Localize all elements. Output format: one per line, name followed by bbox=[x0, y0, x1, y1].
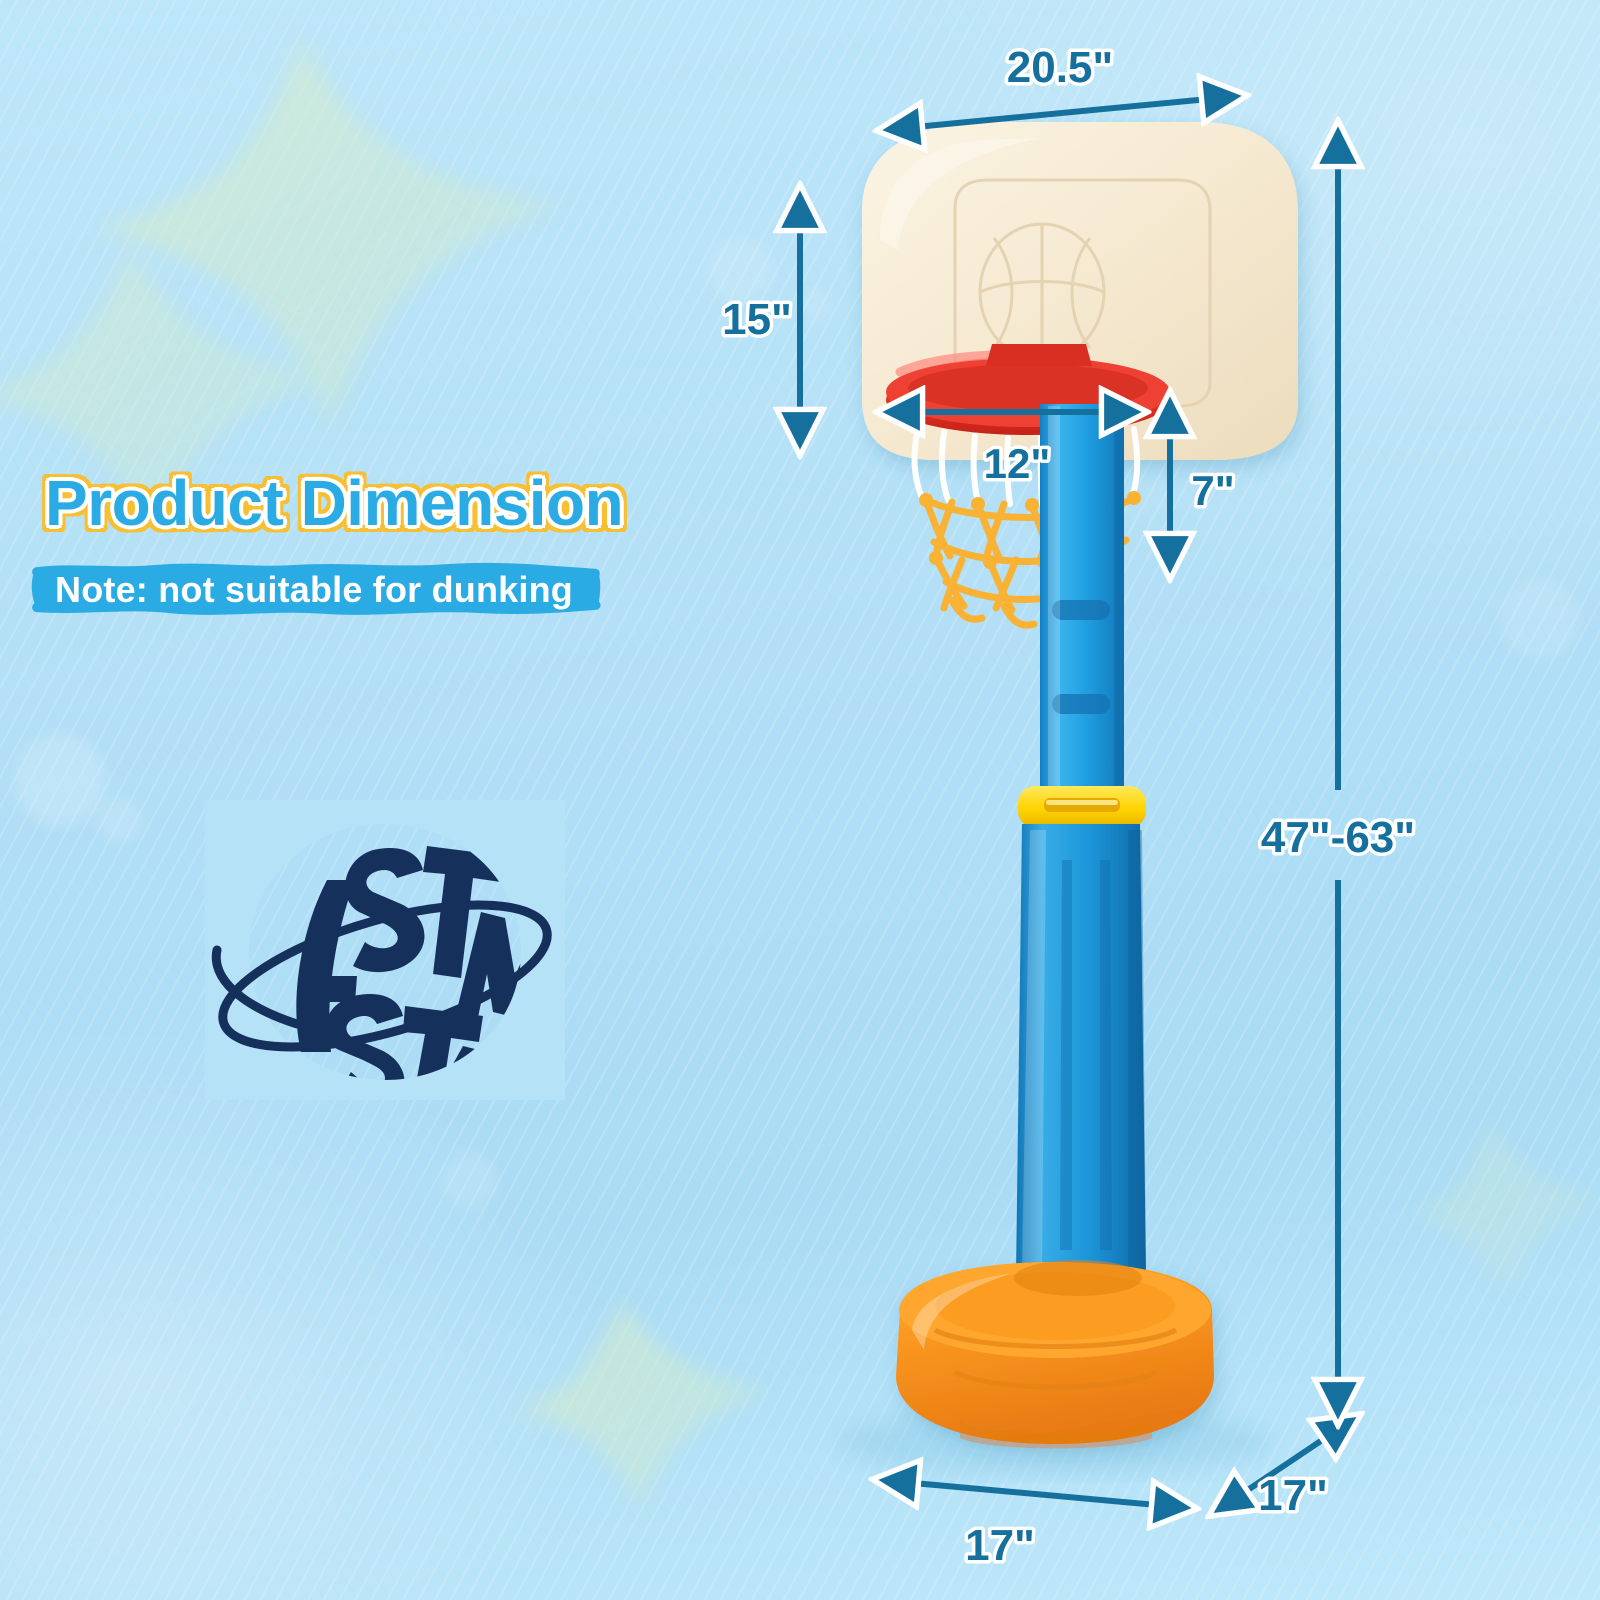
dim-line-base-width bbox=[880, 1480, 1190, 1508]
weighted-base bbox=[896, 1260, 1214, 1449]
note-text: Note: not suitable for dunking bbox=[45, 565, 583, 617]
dim-label-total-height: 47"-63" bbox=[1261, 813, 1415, 862]
pole-slot bbox=[1052, 600, 1110, 620]
pole-rib bbox=[1060, 860, 1072, 1250]
note-callout: Note: not suitable for dunking bbox=[45, 565, 583, 617]
dim-label-base-width: 17" bbox=[965, 1521, 1035, 1570]
upper-pole bbox=[1040, 404, 1124, 800]
product-illustration: 20.5" 15" 12" 7" 47"-63" 17" 17" bbox=[0, 0, 1600, 1600]
pole-rib bbox=[1100, 860, 1112, 1250]
infographic-canvas: Product Dimension Note: not suitable for… bbox=[0, 0, 1600, 1600]
dim-label-rim-drop: 7" bbox=[1191, 467, 1234, 514]
dim-label-base-depth: 17" bbox=[1258, 1471, 1328, 1520]
dim-label-backboard-height: 15" bbox=[722, 295, 792, 344]
pole-slot bbox=[1052, 694, 1110, 714]
dim-label-rim-diameter: 12" bbox=[984, 440, 1051, 487]
lower-pole bbox=[1016, 824, 1146, 1276]
dim-label-backboard-width: 20.5" bbox=[1007, 43, 1114, 92]
height-adjust-collar[interactable] bbox=[1018, 786, 1146, 828]
